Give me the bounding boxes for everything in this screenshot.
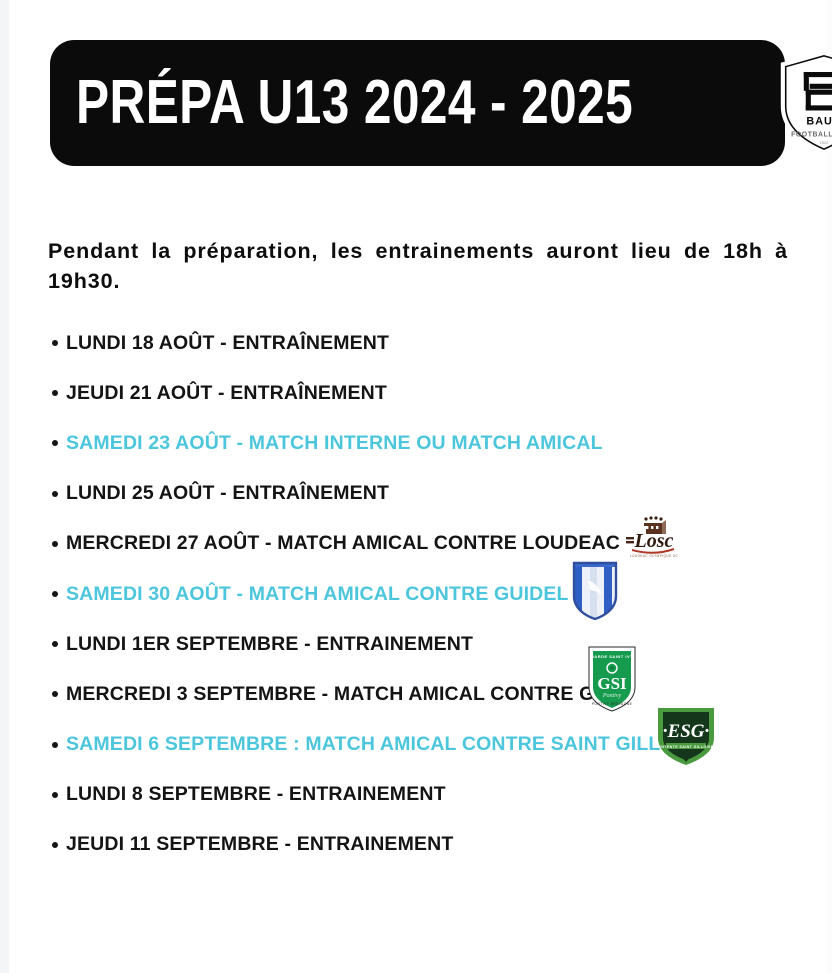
list-item: LUNDI 25 AOÛT - ENTRAÎNEMENT (48, 469, 808, 519)
schedule-item-label: SAMEDI 6 SEPTEMBRE : MATCH AMICAL CONTRE… (66, 733, 687, 756)
svg-text:GSI: GSI (597, 674, 627, 693)
schedule-item-label: LUNDI 1ER SEPTEMBRE - ENTRAINEMENT (66, 633, 473, 656)
list-item: SAMEDI 23 AOÛT - MATCH INTERNE OU MATCH … (48, 418, 808, 468)
esg-saint-gilles-logo: ·ESG· ENTENTE SAINT GILLOISE (653, 704, 719, 766)
intro-paragraph: Pendant la préparation, les entrainement… (48, 236, 788, 296)
bullet-icon (52, 390, 58, 396)
bullet-icon (52, 691, 58, 697)
list-item: SAMEDI 6 SEPTEMBRE : MATCH AMICAL CONTRE… (48, 720, 808, 770)
header-banner: PRÉPA U13 2024 - 2025 BAUD FOOTBALL CLUB… (50, 40, 785, 166)
baud-shield-icon: BAUD FOOTBALL CLUB 1922 (776, 49, 832, 157)
schedule-item-label: LUNDI 18 AOÛT - ENTRAÎNEMENT (66, 332, 389, 355)
svg-text:1922: 1922 (820, 140, 829, 145)
svg-text:PONTIVY BRETAGNE: PONTIVY BRETAGNE (592, 702, 633, 706)
schedule-item-label: SAMEDI 23 AOÛT - MATCH INTERNE OU MATCH … (66, 432, 603, 455)
schedule-item-label: JEUDI 11 SEPTEMBRE - ENTRAINEMENT (66, 833, 453, 856)
bullet-icon (52, 641, 58, 647)
list-item: LUNDI 8 SEPTEMBRE - ENTRAINEMENT (48, 770, 808, 820)
guidel-logo (570, 560, 620, 622)
bullet-icon (52, 440, 58, 446)
bullet-icon (52, 792, 58, 798)
list-item: LUNDI 1ER SEPTEMBRE - ENTRAINEMENT (48, 619, 808, 669)
svg-text:ENTENTE SAINT GILLOISE: ENTENTE SAINT GILLOISE (658, 745, 713, 749)
list-item: JEUDI 21 AOÛT - ENTRAÎNEMENT (48, 368, 808, 418)
bullet-icon (52, 491, 58, 497)
gsi-pontivy-logo: GARDE SAINT IVY GSI Pontivy PONTIVY BRET… (581, 641, 643, 713)
bullet-icon (52, 742, 58, 748)
intro-text: Pendant la préparation, les entrainement… (48, 239, 788, 293)
list-item: JEUDI 11 SEPTEMBRE - ENTRAINEMENT (48, 820, 808, 870)
poster-page: PRÉPA U13 2024 - 2025 BAUD FOOTBALL CLUB… (0, 0, 832, 973)
schedule-item-label: JEUDI 21 AOÛT - ENTRAÎNEMENT (66, 382, 387, 405)
schedule-item-label: MERCREDI 3 SEPTEMBRE - MATCH AMICAL CONT… (66, 683, 613, 706)
bullet-icon (52, 340, 58, 346)
list-item: LUNDI 18 AOÛT - ENTRAÎNEMENT (48, 318, 808, 368)
baud-football-club-logo: BAUD FOOTBALL CLUB 1922 (776, 49, 832, 157)
losc-loudeac-logo: Losc LOUDEAC OLYMPIQUE SC (620, 514, 684, 562)
schedule-item-label: LUNDI 8 SEPTEMBRE - ENTRAINEMENT (66, 783, 446, 806)
svg-text:GARDE SAINT IVY: GARDE SAINT IVY (591, 654, 634, 659)
list-item: MERCREDI 27 AOÛT - MATCH AMICAL CONTRE L… (48, 519, 808, 569)
bullet-icon (52, 541, 58, 547)
page-title: PRÉPA U13 2024 - 2025 (76, 72, 633, 134)
page-left-gutter (0, 0, 9, 973)
list-item: SAMEDI 30 AOÛT - MATCH AMICAL CONTRE GUI… (48, 569, 808, 619)
schedule-item-label: LUNDI 25 AOÛT - ENTRAÎNEMENT (66, 482, 389, 505)
svg-text:Losc: Losc (634, 530, 674, 552)
schedule-item-label: SAMEDI 30 AOÛT - MATCH AMICAL CONTRE GUI… (66, 583, 569, 606)
schedule-item-label: MERCREDI 27 AOÛT - MATCH AMICAL CONTRE L… (66, 532, 620, 555)
schedule-list: LUNDI 18 AOÛT - ENTRAÎNEMENT JEUDI 21 AO… (48, 318, 808, 870)
svg-text:Pontivy: Pontivy (602, 693, 622, 699)
svg-text:BAUD: BAUD (807, 116, 832, 128)
svg-text:LOUDEAC OLYMPIQUE SC: LOUDEAC OLYMPIQUE SC (630, 554, 679, 558)
bullet-icon (52, 591, 58, 597)
svg-text:·ESG·: ·ESG· (663, 721, 710, 742)
svg-text:FOOTBALL CLUB: FOOTBALL CLUB (791, 131, 832, 138)
bullet-icon (52, 842, 58, 848)
